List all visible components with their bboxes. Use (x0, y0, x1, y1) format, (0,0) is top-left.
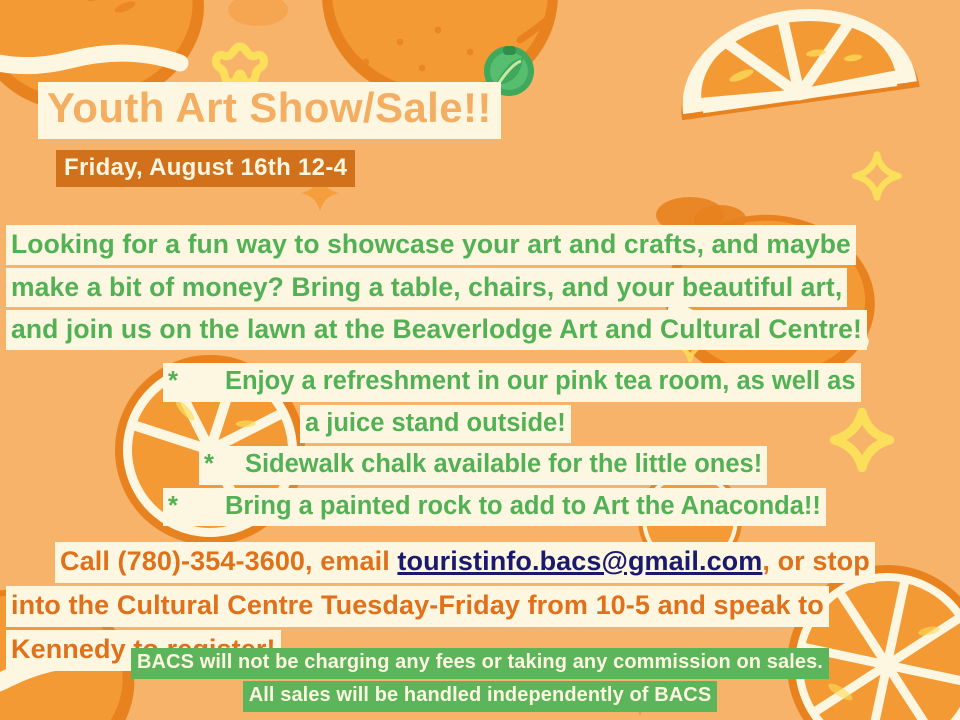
intro-line: and join us on the lawn at the Beaverlod… (6, 310, 867, 350)
contact-line-1: Call (780)-354-3600, email touristinfo.b… (55, 542, 875, 583)
disclaimer-line: BACS will not be charging any fees or ta… (131, 648, 829, 679)
bullet-spacer (214, 446, 240, 485)
event-date-badge: Friday, August 16th 12-4 (56, 150, 355, 187)
page-title-text: Youth Art Show/Sale!! (38, 82, 501, 139)
disclaimer-banner: BACS will not be charging any fees or ta… (0, 648, 960, 714)
disclaimer-row: All sales will be handled independently … (0, 681, 960, 712)
bullet-marker: * (163, 363, 178, 402)
disclaimer-row: BACS will not be charging any fees or ta… (0, 648, 960, 679)
bullet-text: Sidewalk chalk available for the little … (240, 446, 767, 485)
event-date-text: Friday, August 16th 12-4 (56, 150, 355, 187)
email-link[interactable]: touristinfo.bacs@gmail.com (397, 546, 762, 576)
bullet-list: * Enjoy a refreshment in our pink tea ro… (0, 363, 960, 529)
contact-line-2: into the Cultural Centre Tuesday-Friday … (6, 586, 829, 627)
bullet-text: a juice stand outside! (300, 405, 571, 444)
intro-line: Looking for a fun way to showcase your a… (6, 225, 856, 265)
list-item: * Sidewalk chalk available for the littl… (0, 446, 960, 485)
bullet-text: Bring a painted rock to add to Art the A… (220, 488, 826, 527)
bullet-spacer (178, 363, 220, 402)
bullet-spacer (178, 488, 220, 527)
contact-call-text: Call (780)-354-3600, email (60, 546, 397, 576)
bullet-marker: * (163, 488, 178, 527)
poster-content: Youth Art Show/Sale!! Friday, August 16t… (0, 0, 960, 720)
list-item: * Bring a painted rock to add to Art the… (0, 488, 960, 527)
disclaimer-line: All sales will be handled independently … (243, 681, 718, 712)
poster-canvas: Youth Art Show/Sale!! Friday, August 16t… (0, 0, 960, 720)
bullet-marker: * (199, 446, 214, 485)
list-item-continuation: a juice stand outside! (0, 405, 960, 444)
bullet-text: Enjoy a refreshment in our pink tea room… (220, 363, 861, 402)
list-item: * Enjoy a refreshment in our pink tea ro… (0, 363, 960, 402)
page-title: Youth Art Show/Sale!! (38, 82, 501, 139)
intro-paragraph: Looking for a fun way to showcase your a… (6, 225, 867, 353)
contact-line1-tail: , or stop (762, 546, 869, 576)
intro-line: make a bit of money? Bring a table, chai… (6, 268, 847, 308)
